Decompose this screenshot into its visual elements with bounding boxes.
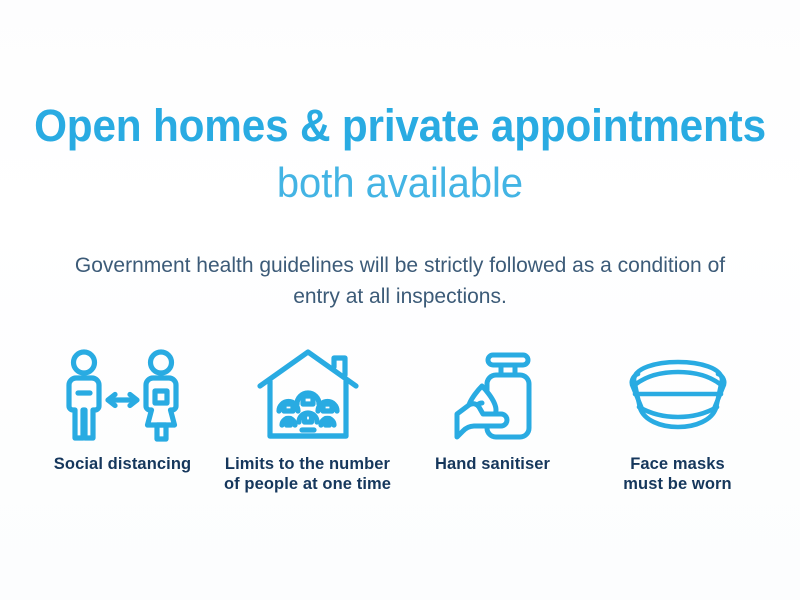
caption-line: Social distancing xyxy=(54,454,191,474)
social-distancing-icon xyxy=(53,348,193,444)
headline-block: Open homes & private appointments both a… xyxy=(0,100,800,208)
guideline-caption: Limits to the number of people at one ti… xyxy=(224,454,391,494)
guideline-item-face-mask: Face masks must be worn xyxy=(585,348,770,494)
guidelines-row: Social distancing xyxy=(30,348,770,494)
covid-safety-poster: Open homes & private appointments both a… xyxy=(0,0,800,600)
page-subtitle: both available xyxy=(20,158,780,208)
face-mask-icon xyxy=(618,348,738,444)
intro-paragraph: Government health guidelines will be str… xyxy=(40,250,760,312)
caption-line: Face masks xyxy=(623,454,731,474)
guideline-item-social-distancing: Social distancing xyxy=(30,348,215,474)
intro-line-1: Government health guidelines will be str… xyxy=(40,250,760,281)
caption-line: must be worn xyxy=(623,474,731,494)
caption-line: Limits to the number xyxy=(224,454,391,474)
guideline-item-hand-sanitiser: Hand sanitiser xyxy=(400,348,585,474)
page-title: Open homes & private appointments xyxy=(24,100,776,152)
caption-line: Hand sanitiser xyxy=(435,454,550,474)
guideline-item-people-limit: Limits to the number of people at one ti… xyxy=(215,348,400,494)
guideline-caption: Social distancing xyxy=(54,454,191,474)
guideline-caption: Face masks must be worn xyxy=(623,454,731,494)
house-people-limit-icon xyxy=(256,348,360,444)
hand-sanitiser-icon xyxy=(449,348,537,444)
caption-line: of people at one time xyxy=(224,474,391,494)
guideline-caption: Hand sanitiser xyxy=(435,454,550,474)
intro-line-2: entry at all inspections. xyxy=(40,281,760,312)
